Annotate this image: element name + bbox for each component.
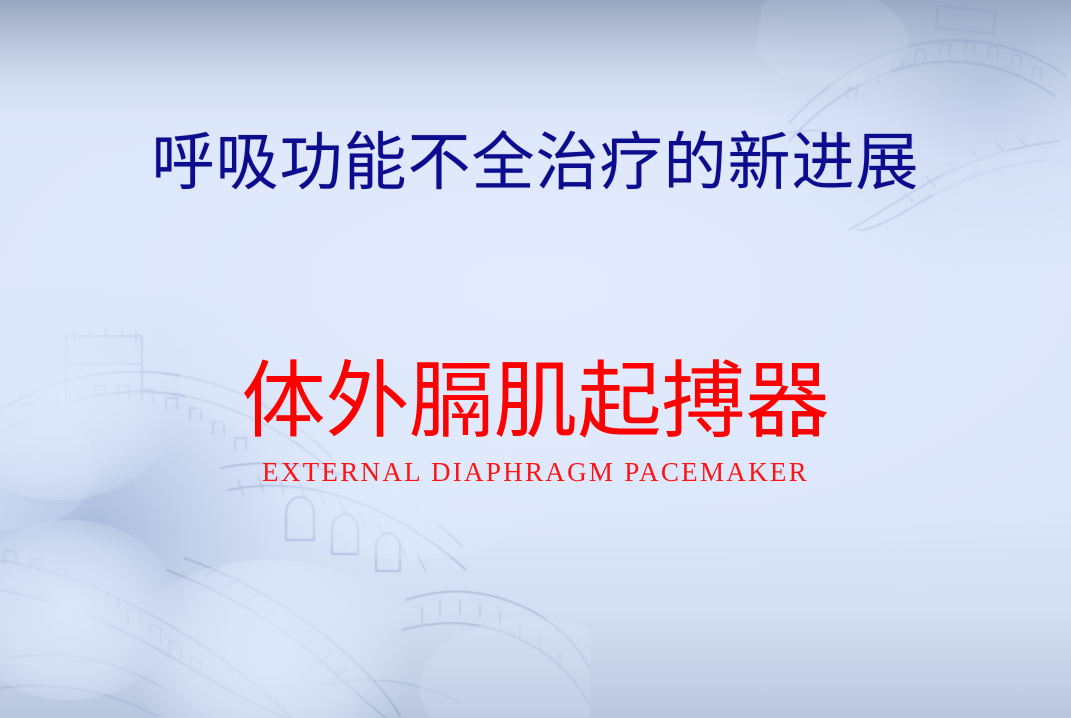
main-heading: 体外膈肌起搏器 (0, 358, 1071, 449)
page-title: 呼吸功能不全治疗的新进展 (0, 126, 1071, 200)
slide-text-layer: 呼吸功能不全治疗的新进展 体外膈肌起搏器 EXTERNAL DIAPHRAGM … (0, 0, 1071, 718)
presentation-slide: 呼吸功能不全治疗的新进展 体外膈肌起搏器 EXTERNAL DIAPHRAGM … (0, 0, 1071, 718)
sub-heading: EXTERNAL DIAPHRAGM PACEMAKER (0, 457, 1071, 488)
